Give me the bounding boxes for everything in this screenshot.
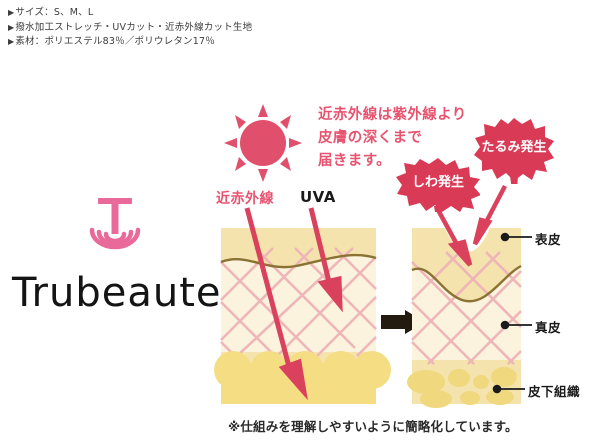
spec-line-material: ▶素材：ポリエステル83％／ポリウレタン17％ (8, 35, 428, 50)
wrinkle-damage-arrow (437, 208, 470, 265)
footnote-caption: ※仕組みを理解しやすいように簡略化しています。 (228, 416, 518, 435)
product-spec-list: ▶サイズ：S、M、L ▶撥水加工ストレッチ・UVカット・近赤外線カット生地 ▶素… (8, 6, 428, 50)
layer-label-dermis: 真皮 (535, 317, 561, 336)
spec-text-size: サイズ：S、M、L (15, 7, 93, 18)
ripple-t-icon (76, 196, 154, 268)
badge-sagging: たるみ 発生 (474, 118, 554, 184)
bullet-triangle-icon: ▶ (8, 23, 14, 32)
layer-label-subcutaneous: 皮下組織 (528, 381, 580, 400)
label-near-infrared: 近赤外線 (216, 188, 274, 208)
spec-text-features: 撥水加工ストレッチ・UVカット・近赤外線カット生地 (15, 22, 252, 33)
label-uva: UVA (300, 188, 336, 206)
skin-cross-section-damaged (407, 228, 521, 408)
near-infrared-ray-arrow (247, 208, 304, 392)
transition-arrow-icon (381, 310, 425, 334)
brand-wordmark: Trubeaute (12, 270, 217, 316)
uva-ray-arrow (311, 208, 340, 305)
layer-leader-lines (494, 234, 532, 393)
spec-line-features: ▶撥水加工ストレッチ・UVカット・近赤外線カット生地 (8, 21, 428, 36)
sun-icon (224, 104, 302, 182)
skin-cross-section-healthy (214, 228, 391, 404)
spec-line-size: ▶サイズ：S、M、L (8, 6, 428, 21)
spec-text-material: 素材：ポリエステル83％／ポリウレタン17％ (15, 36, 215, 47)
layer-label-epidermis: 表皮 (535, 229, 561, 248)
brand-logo: Trubeaute (12, 196, 217, 316)
bullet-triangle-icon: ▶ (8, 37, 14, 46)
bullet-triangle-icon: ▶ (8, 8, 14, 17)
infographic-root: ▶サイズ：S、M、L ▶撥水加工ストレッチ・UVカット・近赤外線カット生地 ▶素… (0, 0, 600, 440)
badge-wrinkle: しわ発生 (396, 158, 480, 212)
